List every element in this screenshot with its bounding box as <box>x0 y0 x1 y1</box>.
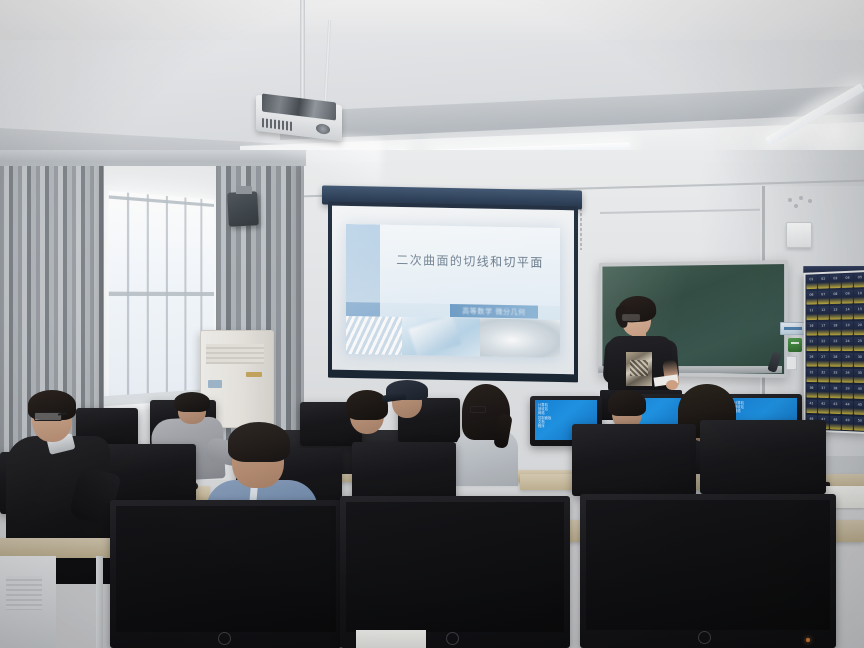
pocket-slot: 36 <box>806 384 817 398</box>
cabinet-vent <box>6 576 42 610</box>
pocket-chart-row: 3637383940 <box>806 383 864 400</box>
pocket-slot: 19 <box>842 321 853 335</box>
slide-subtitle-text: 高等数学 微分几何 <box>452 306 536 318</box>
teacher-glasses <box>622 314 640 321</box>
pocket-slot: 27 <box>818 353 829 367</box>
air-conditioner-vent <box>206 344 264 364</box>
wall-fixtures <box>786 196 816 208</box>
pocket-slot: 23 <box>830 337 841 351</box>
slide-title-text: 二次曲面的切线和切平面 <box>382 251 558 271</box>
pocket-slot: 50 <box>854 417 864 431</box>
pocket-slot: 02 <box>818 275 829 289</box>
pocket-slot: 40 <box>854 385 864 399</box>
pocket-slot: 20 <box>854 321 864 335</box>
wall-speaker <box>227 191 259 227</box>
pocket-slot: 33 <box>830 369 841 383</box>
pocket-slot: 30 <box>854 353 864 367</box>
teacher-shirt-graphic-detail <box>630 360 648 376</box>
wall-control-box <box>786 222 812 248</box>
pocket-chart-row: 3132333435 <box>806 367 864 384</box>
desktop-icon-labels: 计算机回收站网络控制面板文档程序 <box>538 403 552 428</box>
pocket-slot: 35 <box>854 369 864 383</box>
pocket-slot: 04 <box>842 274 853 288</box>
pocket-slot: 15 <box>854 305 864 319</box>
pocket-slot: 29 <box>842 353 853 367</box>
pocket-chart-row: 0607080910 <box>806 288 864 306</box>
student-hair <box>608 390 646 416</box>
pocket-slot: 05 <box>854 273 864 287</box>
pocket-slot: 22 <box>818 337 829 351</box>
pocket-slot: 11 <box>806 306 817 320</box>
air-conditioner-badge <box>246 372 262 377</box>
pocket-slot: 43 <box>830 400 841 414</box>
pocket-chart-row: 1112131415 <box>806 304 864 321</box>
ceiling-slab <box>0 0 864 40</box>
pocket-slot: 28 <box>830 353 841 367</box>
pocket-slot: 21 <box>806 337 817 351</box>
teacher-hand <box>666 380 678 390</box>
presentation-slide: 二次曲面的切线和切平面 高等数学 微分几何 <box>346 224 560 358</box>
pocket-chart-row: 1617181920 <box>806 320 864 337</box>
pocket-slot: 49 <box>842 416 853 430</box>
pocket-slot: 34 <box>842 369 853 383</box>
pocket-slot: 13 <box>830 306 841 320</box>
exit-sign-green <box>788 338 802 352</box>
pocket-slot: 37 <box>818 384 829 398</box>
monitor-foreground <box>340 496 570 648</box>
speaker-bracket <box>236 186 252 194</box>
curtain-rod <box>0 162 306 166</box>
wall-outlet <box>786 356 797 370</box>
pocket-slot: 24 <box>842 337 853 351</box>
pocket-slot: 39 <box>842 385 853 399</box>
pocket-slot: 42 <box>818 400 829 414</box>
window-security-bars <box>109 191 214 401</box>
pocket-slot: 48 <box>830 416 841 430</box>
pocket-slot: 25 <box>854 337 864 351</box>
monitor-foreground <box>580 494 836 648</box>
pocket-slot: 31 <box>806 368 817 382</box>
person-grey-shirt-hair <box>174 392 210 412</box>
pocket-slot: 09 <box>842 290 853 304</box>
pocket-slot: 14 <box>842 305 853 319</box>
pocket-slot: 32 <box>818 369 829 383</box>
monitor <box>572 424 696 496</box>
slide-image-left <box>346 316 402 355</box>
monitor <box>104 444 196 502</box>
pocket-slot: 44 <box>842 400 853 414</box>
student-hair <box>346 390 388 420</box>
pocket-slot: 08 <box>830 290 841 304</box>
pocket-chart-row: 2627282930 <box>806 352 864 368</box>
pocket-slot: 17 <box>818 322 829 336</box>
pocket-chart-row: 2122232425 <box>806 336 864 352</box>
pocket-slot: 26 <box>806 353 817 367</box>
air-conditioner-display <box>208 380 222 388</box>
pocket-slot: 06 <box>806 291 817 305</box>
classroom-photo: 二次曲面的切线和切平面 高等数学 微分几何 010203040506070809… <box>0 0 864 648</box>
pocket-slot: 16 <box>806 322 817 336</box>
projector-mount-pole <box>300 0 305 100</box>
pocket-organizer-chart: 0102030405060708091011121314151617181920… <box>804 270 864 434</box>
pocket-slot: 10 <box>854 289 864 303</box>
pocket-slot: 01 <box>806 275 817 289</box>
person-blue-shirt-hair <box>228 422 290 462</box>
pocket-slot: 18 <box>830 321 841 335</box>
student-glasses <box>470 406 486 413</box>
pocket-slot: 03 <box>830 274 841 288</box>
pocket-slot: 45 <box>854 401 864 415</box>
monitor-foreground <box>110 500 342 648</box>
paper-sheet <box>356 630 426 648</box>
desk-row-near-left <box>0 538 120 558</box>
pocket-slot: 38 <box>830 384 841 398</box>
desk-leg <box>96 556 103 648</box>
pocket-slot: 07 <box>818 290 829 304</box>
slide-left-band-accent <box>346 302 380 317</box>
pocket-slot: 12 <box>818 306 829 320</box>
pocket-slot: 41 <box>806 399 817 413</box>
slide-left-band <box>346 224 380 303</box>
slide-image-right <box>480 319 560 359</box>
monitor <box>700 420 826 494</box>
